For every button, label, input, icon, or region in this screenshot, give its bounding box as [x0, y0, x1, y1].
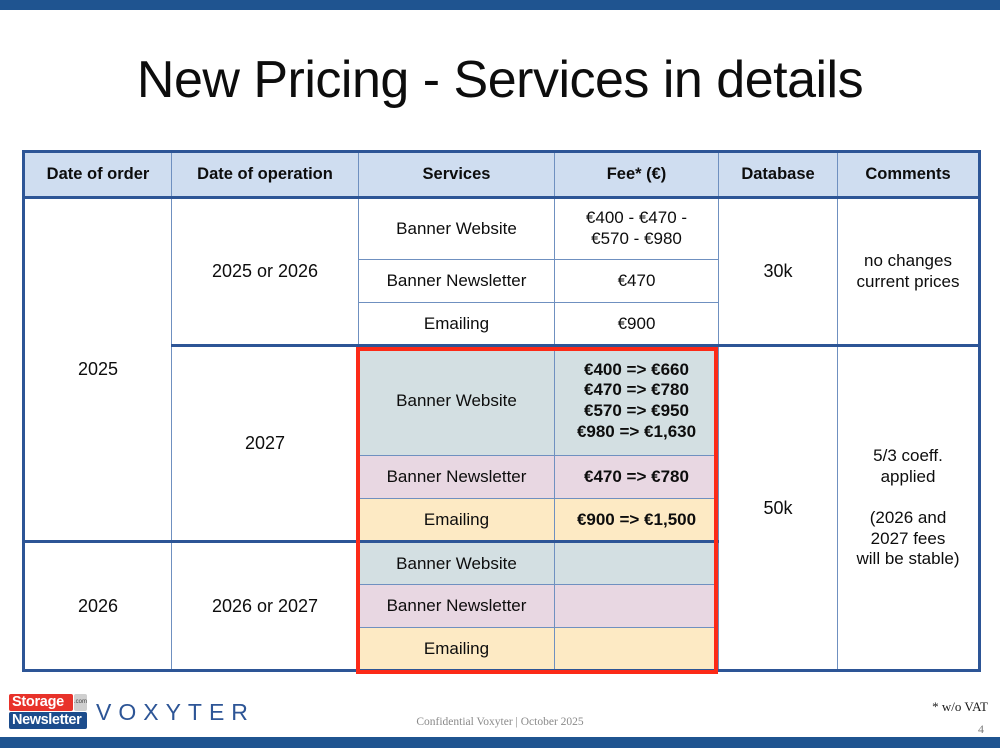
cell-fee: [555, 585, 719, 628]
cell-service: Banner Newsletter: [359, 260, 555, 303]
cell-service: Banner Newsletter: [359, 585, 555, 628]
logo-storage-text: Storage: [9, 694, 73, 711]
cell-service: Banner Website: [359, 198, 555, 260]
cell-comments-coefficient: 5/3 coeff.applied (2026 and2027 feeswill…: [838, 346, 980, 671]
table-header-row: Date of order Date of operation Services…: [24, 152, 980, 198]
cell-date-of-order-2026: 2026: [24, 542, 172, 671]
page-title: New Pricing - Services in details: [0, 52, 1000, 109]
table-body: 2025 2025 or 2026 Banner Website €400 - …: [24, 198, 980, 671]
col-header-comments: Comments: [838, 152, 980, 198]
logo-dotcom-badge: .com: [74, 694, 87, 711]
cell-fee: [555, 628, 719, 671]
cell-service: Banner Website: [359, 542, 555, 585]
cell-date-of-order-2025: 2025: [24, 198, 172, 542]
cell-database-30k: 30k: [719, 198, 838, 346]
footnote-vat: * w/o VAT: [932, 699, 988, 715]
cell-fee: €470 => €780: [555, 456, 719, 499]
col-header-services: Services: [359, 152, 555, 198]
cell-fee: €400 => €660€470 => €780€570 => €950€980…: [555, 346, 719, 456]
cell-service: Banner Newsletter: [359, 456, 555, 499]
cell-service: Emailing: [359, 499, 555, 542]
cell-fee: €900 => €1,500: [555, 499, 719, 542]
col-header-fee: Fee* (€): [555, 152, 719, 198]
cell-date-of-operation-2026-2027: 2026 or 2027: [172, 542, 359, 671]
cell-fee: €470: [555, 260, 719, 303]
cell-comments-no-changes: no changescurrent prices: [838, 198, 980, 346]
cell-date-of-operation-2025-2026: 2025 or 2026: [172, 198, 359, 346]
cell-fee: [555, 542, 719, 585]
slide-canvas: New Pricing - Services in details Date o…: [0, 0, 1000, 748]
cell-database-50k: 50k: [719, 346, 838, 671]
footer-confidential-note: Confidential Voxyter | October 2025: [0, 716, 1000, 728]
cell-fee: €400 - €470 -€570 - €980: [555, 198, 719, 260]
cell-service: Banner Website: [359, 346, 555, 456]
cell-service: Emailing: [359, 303, 555, 346]
table-row: 2025 2025 or 2026 Banner Website €400 - …: [24, 198, 980, 260]
bottom-accent-bar: [0, 737, 1000, 748]
cell-service: Emailing: [359, 628, 555, 671]
cell-date-of-operation-2027: 2027: [172, 346, 359, 542]
pricing-table: Date of order Date of operation Services…: [22, 150, 981, 672]
top-accent-bar: [0, 0, 1000, 10]
cell-fee: €900: [555, 303, 719, 346]
col-header-database: Database: [719, 152, 838, 198]
page-number: 4: [978, 722, 984, 737]
col-header-date-of-operation: Date of operation: [172, 152, 359, 198]
col-header-date-of-order: Date of order: [24, 152, 172, 198]
